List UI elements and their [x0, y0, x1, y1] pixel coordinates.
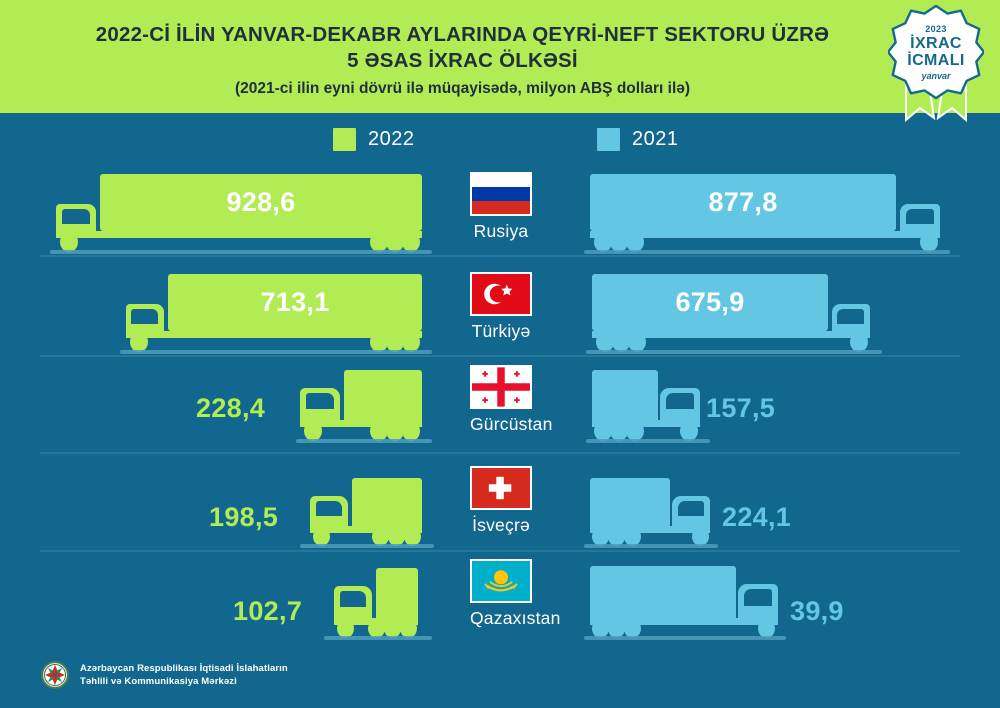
- country-block-gurcustan: Gürcüstan: [470, 365, 532, 435]
- azerbaijan-emblem-icon: [40, 660, 70, 690]
- value-2021-rusiya: 877,8: [590, 187, 896, 218]
- badge-text: 2023 İXRAC İCMALI yanvar: [888, 4, 984, 100]
- cab-window: [906, 209, 934, 224]
- header-text-block: 2022-Cİ İLİN YANVAR-DEKABR AYLARINDA QEY…: [40, 22, 885, 101]
- page-title-line2: 5 ƏSAS İXRAC ÖLKƏSİ: [40, 48, 885, 74]
- chart-row-gurcustan: 228,4: [0, 360, 1000, 450]
- country-name-turkiye: Türkiyə: [470, 321, 532, 342]
- footer-org-line1: Azərbaycan Respublikası İqtisadi İslahat…: [80, 662, 288, 675]
- infographic-page: 2022-Cİ İLİN YANVAR-DEKABR AYLARINDA QEY…: [0, 0, 1000, 708]
- legend-swatch-2022: [333, 128, 356, 151]
- flag-russia-icon: [470, 172, 532, 216]
- value-2021-gurcustan: 157,5: [706, 393, 775, 424]
- truck-wheel: [850, 332, 868, 352]
- cab-window: [340, 591, 366, 607]
- legend-label-2021: 2021: [632, 128, 679, 151]
- ground-line-right: [586, 439, 710, 443]
- country-block-isvecre: İsveçrə: [470, 466, 532, 536]
- badge-line2: İCMALI: [907, 52, 965, 69]
- ground-line-left: [50, 250, 432, 254]
- truck-trailer: [592, 370, 658, 424]
- value-2022-qazaxistan: 102,7: [233, 596, 302, 627]
- flag-switzerland-icon: [470, 466, 532, 510]
- country-block-qazaxistan: Qazaxıstan: [470, 559, 532, 629]
- chart-row-rusiya: 928,6 Rusiya 877,8: [0, 160, 1000, 255]
- row-separator-4: [40, 550, 960, 552]
- country-name-isvecre: İsveçrə: [470, 515, 532, 536]
- ground-line-right: [584, 544, 718, 548]
- truck-wheel: [402, 332, 420, 352]
- chart-row-isvecre: 198,5 İsveçrə: [0, 458, 1000, 548]
- flag-kazakhstan-icon: [470, 559, 532, 603]
- truck-trailer: [352, 478, 422, 530]
- value-2021-isvecre: 224,1: [722, 502, 791, 533]
- row-separator-1: [40, 255, 960, 257]
- legend-label-2022: 2022: [368, 128, 415, 151]
- truck-wheel: [920, 232, 938, 252]
- cab-window: [678, 501, 704, 516]
- truck-trailer: [376, 568, 418, 622]
- badge-line1: İXRAC: [910, 35, 962, 52]
- truck-wheel: [402, 232, 420, 252]
- cab-window: [666, 393, 694, 409]
- row-separator-2: [40, 355, 960, 357]
- chart-legend: 2022 2021: [0, 126, 1000, 156]
- truck-wheel: [626, 232, 644, 252]
- country-name-gurcustan: Gürcüstan: [470, 414, 532, 435]
- country-name-rusiya: Rusiya: [470, 221, 532, 242]
- truck-trailer: [590, 566, 736, 622]
- value-2021-qazaxistan: 39,9: [790, 596, 844, 627]
- flag-georgia-icon: [470, 365, 532, 409]
- header-band: 2022-Cİ İLİN YANVAR-DEKABR AYLARINDA QEY…: [0, 0, 1000, 113]
- cab-window: [306, 393, 334, 409]
- ground-line-right: [584, 636, 786, 640]
- chart-row-turkiye: 713,1 Türkiyə 675,9: [0, 260, 1000, 355]
- truck-trailer: [344, 370, 422, 424]
- truck-wheel: [626, 421, 644, 441]
- row-separator-3: [40, 452, 960, 454]
- truck-wheel: [60, 232, 78, 252]
- truck-trailer: [590, 478, 670, 530]
- cab-window: [62, 209, 90, 224]
- country-name-qazaxistan: Qazaxıstan: [470, 608, 532, 629]
- footer-text-block: Azərbaycan Respublikası İqtisadi İslahat…: [80, 662, 288, 688]
- ground-line-left: [120, 350, 432, 354]
- value-2022-rusiya: 928,6: [100, 187, 422, 218]
- value-2022-isvecre: 198,5: [209, 502, 278, 533]
- legend-swatch-2021: [597, 128, 620, 151]
- page-title-line1: 2022-Cİ İLİN YANVAR-DEKABR AYLARINDA QEY…: [40, 22, 885, 48]
- cab-window: [131, 309, 158, 324]
- flag-turkey-icon: [470, 272, 532, 316]
- country-block-rusiya: Rusiya: [470, 172, 532, 242]
- truck-wheel: [304, 421, 322, 441]
- page-subtitle: (2021-ci ilin eyni dövrü ilə müqayisədə,…: [40, 77, 885, 101]
- badge-year: 2023: [925, 24, 947, 34]
- legend-item-2022: 2022: [333, 128, 415, 151]
- value-2022-gurcustan: 228,4: [196, 393, 265, 424]
- value-2022-turkiye: 713,1: [168, 287, 422, 318]
- ixrac-icmali-badge: 2023 İXRAC İCMALI yanvar: [888, 4, 984, 134]
- truck-wheel: [402, 421, 420, 441]
- value-2021-turkiye: 675,9: [592, 287, 828, 318]
- ground-line-left: [300, 544, 434, 548]
- ground-line-right: [584, 250, 950, 254]
- footer-credit: Azərbaycan Respublikası İqtisadi İslahat…: [40, 660, 288, 690]
- footer-org-line2: Təhlili və Kommunikasiya Mərkəzi: [80, 675, 288, 688]
- truck-wheel: [680, 421, 698, 441]
- cab-window: [316, 501, 342, 516]
- ground-line-right: [586, 350, 882, 354]
- legend-item-2021: 2021: [597, 128, 679, 151]
- truck-chassis: [56, 231, 422, 238]
- truck-wheel: [130, 332, 148, 352]
- cab-window: [744, 589, 772, 606]
- truck-wheel: [628, 332, 646, 352]
- ground-line-left: [296, 439, 432, 443]
- cab-window: [837, 309, 864, 324]
- ground-line-left: [324, 636, 432, 640]
- chart-row-qazaxistan: 102,7 Qazaxıstan: [0, 556, 1000, 646]
- country-block-turkiye: Türkiyə: [470, 272, 532, 342]
- badge-month: yanvar: [921, 71, 950, 81]
